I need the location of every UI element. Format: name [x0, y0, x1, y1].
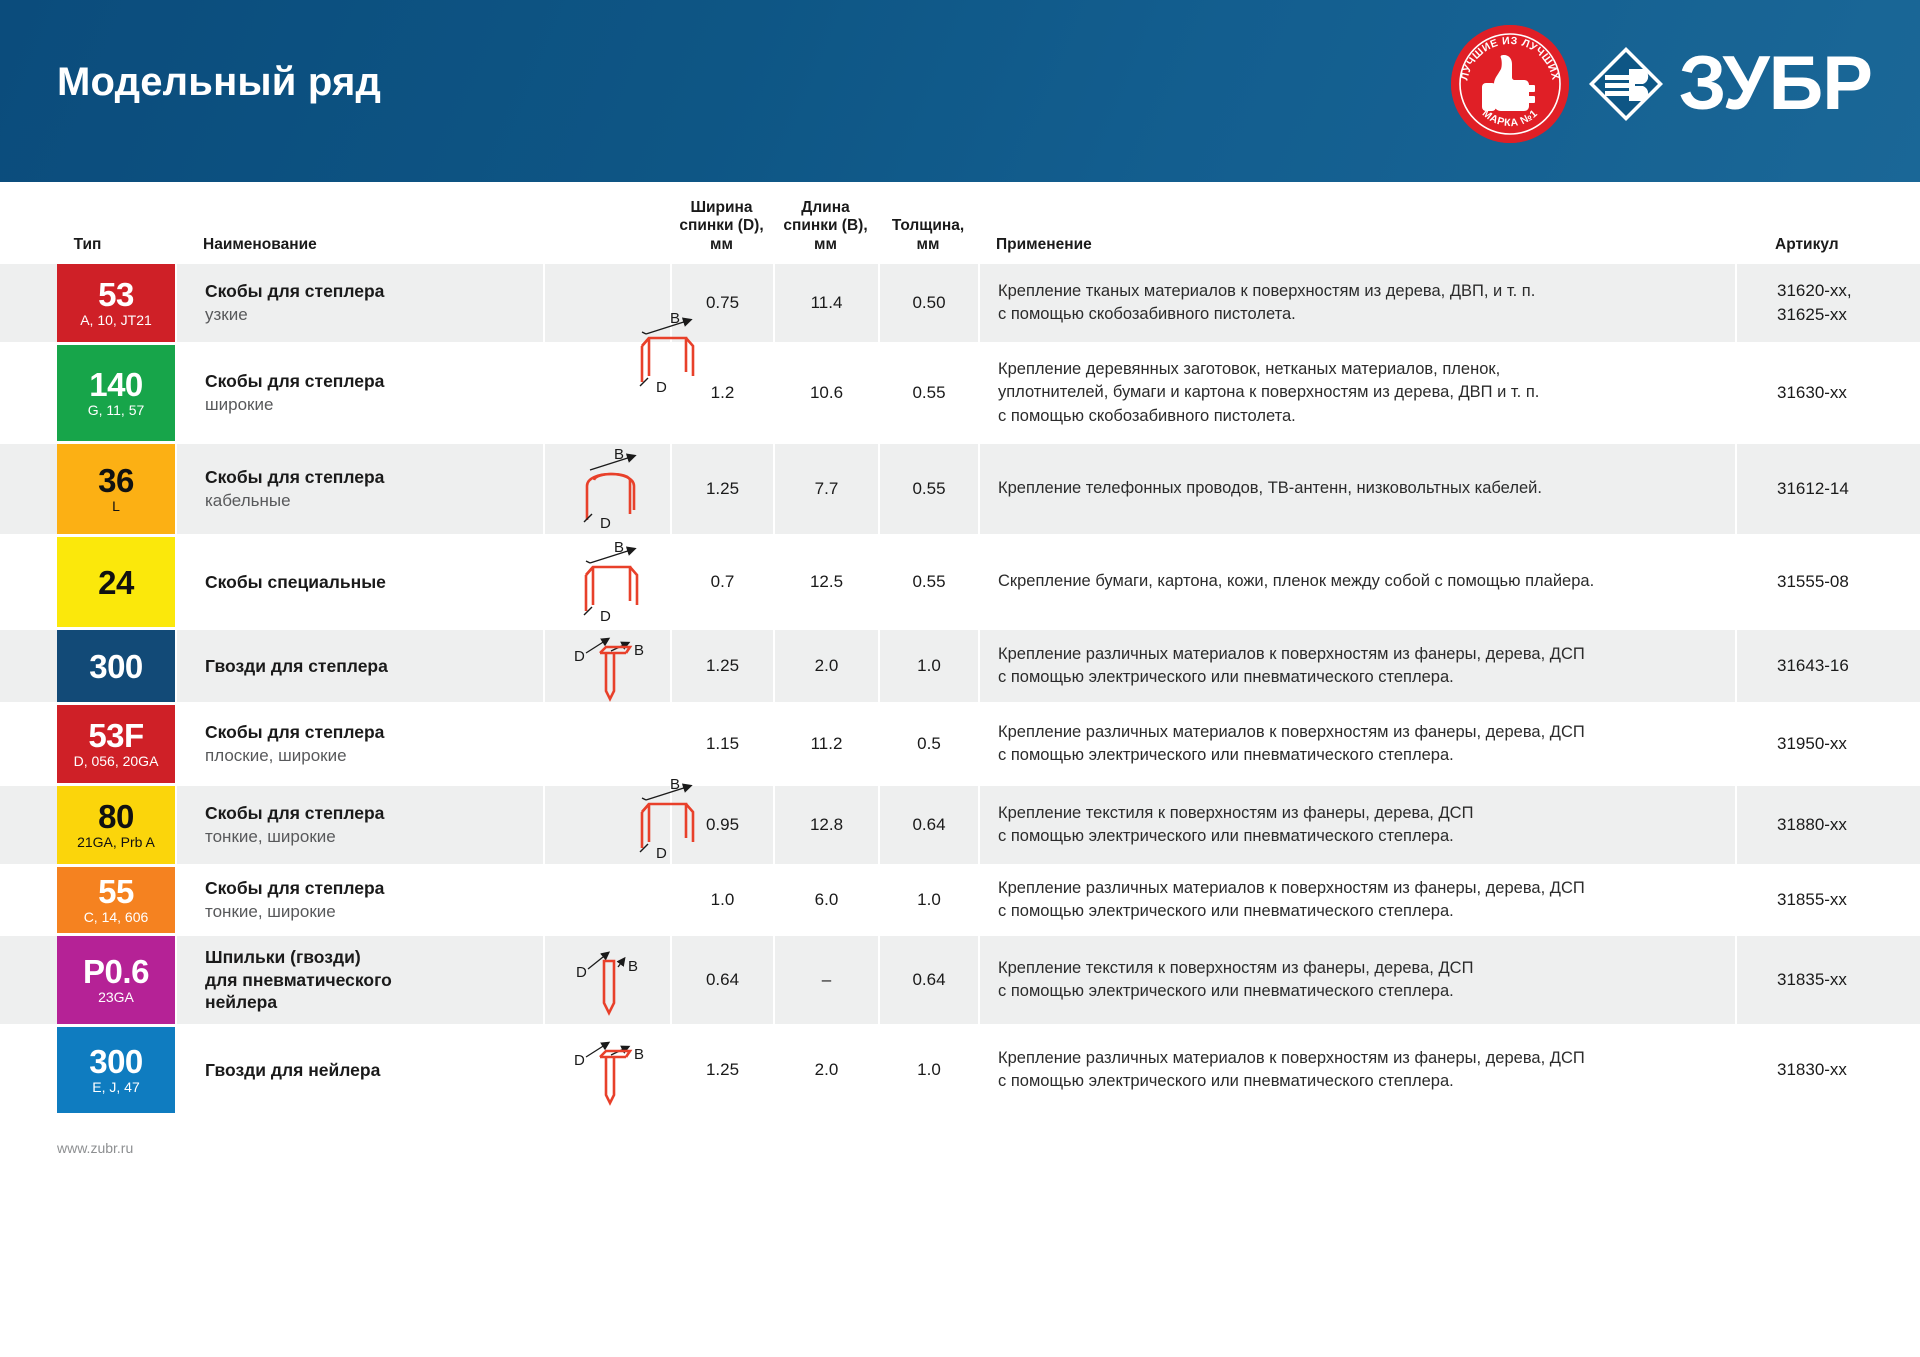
application-text: Крепление тканых материалов к поверхност… — [998, 280, 1535, 327]
cell-length: 10.6 — [773, 345, 878, 441]
cell-width: 1.0 — [670, 867, 773, 933]
cell-diagram-staple-square — [543, 786, 670, 864]
cell-diagram-empty — [543, 345, 670, 441]
article-number: 31630-xx — [1777, 381, 1847, 405]
article-number: 31620-xx,31625-xx — [1777, 279, 1852, 327]
type-badge-number: 53F — [88, 719, 143, 752]
col-header-length-line1: Длина — [773, 199, 878, 217]
product-name: Скобы специальные — [205, 571, 533, 593]
type-badge-number: 53 — [98, 278, 134, 311]
table-row: 300E, J, 47Гвозди для нейлера D B 1.252.… — [0, 1027, 1920, 1113]
cell-length: 12.5 — [773, 537, 878, 627]
cell-application: Крепление текстиля к поверхностям из фан… — [978, 936, 1735, 1024]
cell-thickness: 0.55 — [878, 444, 978, 534]
article-number: 31643-16 — [1777, 654, 1849, 678]
type-badge-number: 300 — [89, 650, 143, 683]
cell-length: 2.0 — [773, 1027, 878, 1113]
cell-name: Скобы специальные — [175, 537, 543, 627]
table-header-row: Тип Наименование Ширина спинки (D), мм Д… — [0, 182, 1920, 264]
cell-thickness: 0.55 — [878, 345, 978, 441]
cell-diagram-staple-square: B D — [543, 537, 670, 627]
table-row: 8021GA, Prb AСкобы для степлератонкие, ш… — [0, 786, 1920, 864]
cell-type: P0.623GA — [0, 936, 175, 1024]
product-name: Гвозди для степлера — [205, 655, 533, 677]
cell-thickness: 1.0 — [878, 1027, 978, 1113]
svg-text:B: B — [634, 642, 644, 659]
cell-thickness: 1.0 — [878, 867, 978, 933]
type-badge-number: 36 — [98, 464, 134, 497]
application-text: Скрепление бумаги, картона, кожи, пленок… — [998, 570, 1594, 593]
application-text: Крепление различных материалов к поверхн… — [998, 877, 1585, 924]
cell-article: 31620-xx,31625-xx — [1735, 264, 1920, 342]
cell-width: 1.25 — [670, 630, 773, 702]
cell-width: 0.95 — [670, 786, 773, 864]
type-badge: 300E, J, 47 — [57, 1027, 175, 1113]
product-name: Скобы для степлера — [205, 802, 533, 824]
cell-article: 31880-xx — [1735, 786, 1920, 864]
type-badge: 300 — [57, 630, 175, 702]
product-name: Скобы для степлера — [205, 280, 533, 302]
cell-article: 31643-16 — [1735, 630, 1920, 702]
article-number: 31612-14 — [1777, 477, 1849, 501]
col-header-application: Применение — [978, 236, 1735, 254]
cell-length: 7.7 — [773, 444, 878, 534]
col-header-width: Ширина спинки (D), мм — [670, 199, 773, 254]
cell-thickness: 0.50 — [878, 264, 978, 342]
page-header: Модельный ряд ЛУЧШИЕ ИЗ ЛУЧШИХ МАРКА №1 — [0, 0, 1920, 182]
cell-name: Гвозди для нейлера — [175, 1027, 543, 1113]
cell-type: 24 — [0, 537, 175, 627]
cell-thickness: 0.64 — [878, 786, 978, 864]
cell-type: 36L — [0, 444, 175, 534]
application-text: Крепление текстиля к поверхностям из фан… — [998, 957, 1473, 1004]
application-text: Крепление различных материалов к поверхн… — [998, 721, 1585, 768]
col-header-width-line2: спинки (D), мм — [670, 217, 773, 254]
cell-length: 11.4 — [773, 264, 878, 342]
cell-diagram-pin: D B — [543, 936, 670, 1024]
col-header-type: Тип — [0, 236, 175, 254]
type-badge-number: 300 — [89, 1045, 143, 1078]
cell-article: 31855-xx — [1735, 867, 1920, 933]
product-name-subtext: тонкие, широкие — [205, 901, 533, 923]
cell-application: Крепление различных материалов к поверхн… — [978, 705, 1735, 783]
brand-logo-group: ЛУЧШИЕ ИЗ ЛУЧШИХ МАРКА №1 — [1451, 14, 1872, 154]
cell-diagram-empty — [543, 867, 670, 933]
product-name: Скобы для степлера — [205, 877, 533, 899]
svg-text:D: D — [600, 515, 611, 532]
svg-text:D: D — [574, 648, 585, 665]
cell-article: 31612-14 — [1735, 444, 1920, 534]
product-name: Скобы для степлера — [205, 721, 533, 743]
cell-name: Гвозди для степлера — [175, 630, 543, 702]
cell-application: Крепление текстиля к поверхностям из фан… — [978, 786, 1735, 864]
type-badge-subtext: G, 11, 57 — [88, 403, 145, 418]
cell-application: Крепление телефонных проводов, ТВ-антенн… — [978, 444, 1735, 534]
brand-name: ЗУБР — [1679, 46, 1872, 122]
cell-application: Крепление тканых материалов к поверхност… — [978, 264, 1735, 342]
table-row: P0.623GAШпильки (гвозди)для пневматическ… — [0, 936, 1920, 1024]
cell-width: 1.2 — [670, 345, 773, 441]
table-row: 53FD, 056, 20GAСкобы для степлераплоские… — [0, 705, 1920, 783]
application-text: Крепление различных материалов к поверхн… — [998, 643, 1585, 690]
cell-type: 53FD, 056, 20GA — [0, 705, 175, 783]
svg-text:D: D — [576, 964, 587, 981]
table-row: 24Скобы специальные B D 0.712.50.55Скреп… — [0, 537, 1920, 627]
table-row: 55C, 14, 606Скобы для степлератонкие, ши… — [0, 867, 1920, 933]
product-name-subtext: тонкие, широкие — [205, 826, 533, 848]
product-name: Скобы для степлера — [205, 466, 533, 488]
type-badge: 36L — [57, 444, 175, 534]
type-badge-number: 140 — [89, 368, 143, 401]
type-badge-number: 55 — [98, 875, 134, 908]
cell-article: 31950-xx — [1735, 705, 1920, 783]
type-badge: 140G, 11, 57 — [57, 345, 175, 441]
product-name: Гвозди для нейлера — [205, 1059, 533, 1081]
type-badge-number: P0.6 — [83, 955, 149, 988]
type-badge-subtext: E, J, 47 — [92, 1080, 139, 1095]
product-name-subtext: широкие — [205, 394, 533, 416]
article-number: 31835-xx — [1777, 968, 1847, 992]
type-badge: 55C, 14, 606 — [57, 867, 175, 933]
type-badge: 24 — [57, 537, 175, 627]
type-badge-subtext: C, 14, 606 — [84, 910, 149, 925]
type-badge-subtext: 21GA, Prb A — [77, 835, 155, 850]
cell-width: 0.75 — [670, 264, 773, 342]
col-header-thickness-line2: мм — [878, 236, 978, 254]
product-name-subtext: плоские, широкие — [205, 745, 533, 767]
cell-type: 55C, 14, 606 — [0, 867, 175, 933]
page-title: Модельный ряд — [57, 60, 381, 105]
svg-text:D: D — [574, 1052, 585, 1069]
cell-application: Скрепление бумаги, картона, кожи, пленок… — [978, 537, 1735, 627]
cell-type: 8021GA, Prb A — [0, 786, 175, 864]
cell-type: 300 — [0, 630, 175, 702]
cell-name: Скобы для степлераузкие — [175, 264, 543, 342]
table-row: 140G, 11, 57Скобы для степлераширокие1.2… — [0, 345, 1920, 441]
svg-text:B: B — [628, 958, 638, 975]
col-header-length: Длина спинки (B), мм — [773, 199, 878, 254]
cell-thickness: 1.0 — [878, 630, 978, 702]
application-text: Крепление телефонных проводов, ТВ-антенн… — [998, 477, 1542, 500]
type-badge: 53A, 10, JT21 — [57, 264, 175, 342]
cell-diagram-staple-square — [543, 264, 670, 342]
zubr-diamond-icon — [1587, 45, 1665, 123]
cell-diagram-nail: D B — [543, 630, 670, 702]
article-number: 31950-xx — [1777, 732, 1847, 756]
cell-article: 31630-xx — [1735, 345, 1920, 441]
cell-type: 300E, J, 47 — [0, 1027, 175, 1113]
article-number: 31855-xx — [1777, 888, 1847, 912]
svg-text:B: B — [634, 1046, 644, 1063]
cell-diagram-staple-round: B D — [543, 444, 670, 534]
type-badge: 53FD, 056, 20GA — [57, 705, 175, 783]
article-number: 31880-xx — [1777, 813, 1847, 837]
cell-article: 31830-xx — [1735, 1027, 1920, 1113]
cell-application: Крепление различных материалов к поверхн… — [978, 1027, 1735, 1113]
cell-name: Шпильки (гвозди)для пневматическогонейле… — [175, 936, 543, 1024]
type-badge-subtext: L — [112, 499, 120, 514]
cell-name: Скобы для степлеракабельные — [175, 444, 543, 534]
type-badge-number: 24 — [98, 566, 134, 599]
cell-type: 53A, 10, JT21 — [0, 264, 175, 342]
cell-length: 6.0 — [773, 867, 878, 933]
cell-name: Скобы для степлераплоские, широкие — [175, 705, 543, 783]
cell-name: Скобы для степлераширокие — [175, 345, 543, 441]
col-header-thickness: Толщина, мм — [878, 217, 978, 254]
cell-application: Крепление различных материалов к поверхн… — [978, 867, 1735, 933]
type-badge-subtext: A, 10, JT21 — [80, 313, 152, 328]
cell-thickness: 0.5 — [878, 705, 978, 783]
model-range-table: Тип Наименование Ширина спинки (D), мм Д… — [0, 182, 1920, 1113]
type-badge: 8021GA, Prb A — [57, 786, 175, 864]
cell-application: Крепление различных материалов к поверхн… — [978, 630, 1735, 702]
col-header-name: Наименование — [175, 236, 543, 254]
type-badge: P0.623GA — [57, 936, 175, 1024]
application-text: Крепление различных материалов к поверхн… — [998, 1047, 1585, 1094]
cell-name: Скобы для степлератонкие, широкие — [175, 786, 543, 864]
cell-thickness: 0.64 — [878, 936, 978, 1024]
product-name-subtext: узкие — [205, 304, 533, 326]
cell-width: 0.64 — [670, 936, 773, 1024]
cell-length: – — [773, 936, 878, 1024]
article-number: 31830-xx — [1777, 1058, 1847, 1082]
table-body: 53A, 10, JT21Скобы для степлераузкие0.75… — [0, 264, 1920, 1113]
cell-width: 1.15 — [670, 705, 773, 783]
product-name: Скобы для степлера — [205, 370, 533, 392]
cell-name: Скобы для степлератонкие, широкие — [175, 867, 543, 933]
col-header-length-line2: спинки (B), мм — [773, 217, 878, 254]
product-name-subtext: кабельные — [205, 490, 533, 512]
cell-article: 31555-08 — [1735, 537, 1920, 627]
best-of-best-stamp-icon: ЛУЧШИЕ ИЗ ЛУЧШИХ МАРКА №1 — [1451, 25, 1569, 143]
col-header-article: Артикул — [1735, 236, 1920, 254]
website-url: www.zubr.ru — [57, 1140, 133, 1156]
page-footer: www.zubr.ru — [0, 1113, 1920, 1183]
cell-type: 140G, 11, 57 — [0, 345, 175, 441]
cell-width: 1.25 — [670, 1027, 773, 1113]
col-header-thickness-line1: Толщина, — [878, 217, 978, 235]
table-row: 36LСкобы для степлеракабельные B D 1.257… — [0, 444, 1920, 534]
cell-width: 0.7 — [670, 537, 773, 627]
cell-length: 11.2 — [773, 705, 878, 783]
zubr-wordmark: ЗУБР — [1587, 45, 1872, 123]
table-row: 53A, 10, JT21Скобы для степлераузкие0.75… — [0, 264, 1920, 342]
cell-diagram-nail: D B — [543, 1027, 670, 1113]
application-text: Крепление текстиля к поверхностям из фан… — [998, 802, 1473, 849]
col-header-width-line1: Ширина — [670, 199, 773, 217]
cell-article: 31835-xx — [1735, 936, 1920, 1024]
type-badge-number: 80 — [98, 800, 134, 833]
type-badge-subtext: 23GA — [98, 990, 134, 1005]
cell-application: Крепление деревянных заготовок, нетканых… — [978, 345, 1735, 441]
product-name: Шпильки (гвозди)для пневматическогонейле… — [205, 946, 533, 1013]
article-number: 31555-08 — [1777, 570, 1849, 594]
table-row: 300Гвозди для степлера D B 1.252.01.0Кре… — [0, 630, 1920, 702]
cell-length: 12.8 — [773, 786, 878, 864]
cell-width: 1.25 — [670, 444, 773, 534]
application-text: Крепление деревянных заготовок, нетканых… — [998, 358, 1539, 428]
cell-thickness: 0.55 — [878, 537, 978, 627]
cell-length: 2.0 — [773, 630, 878, 702]
type-badge-subtext: D, 056, 20GA — [74, 754, 159, 769]
cell-diagram-empty — [543, 705, 670, 783]
